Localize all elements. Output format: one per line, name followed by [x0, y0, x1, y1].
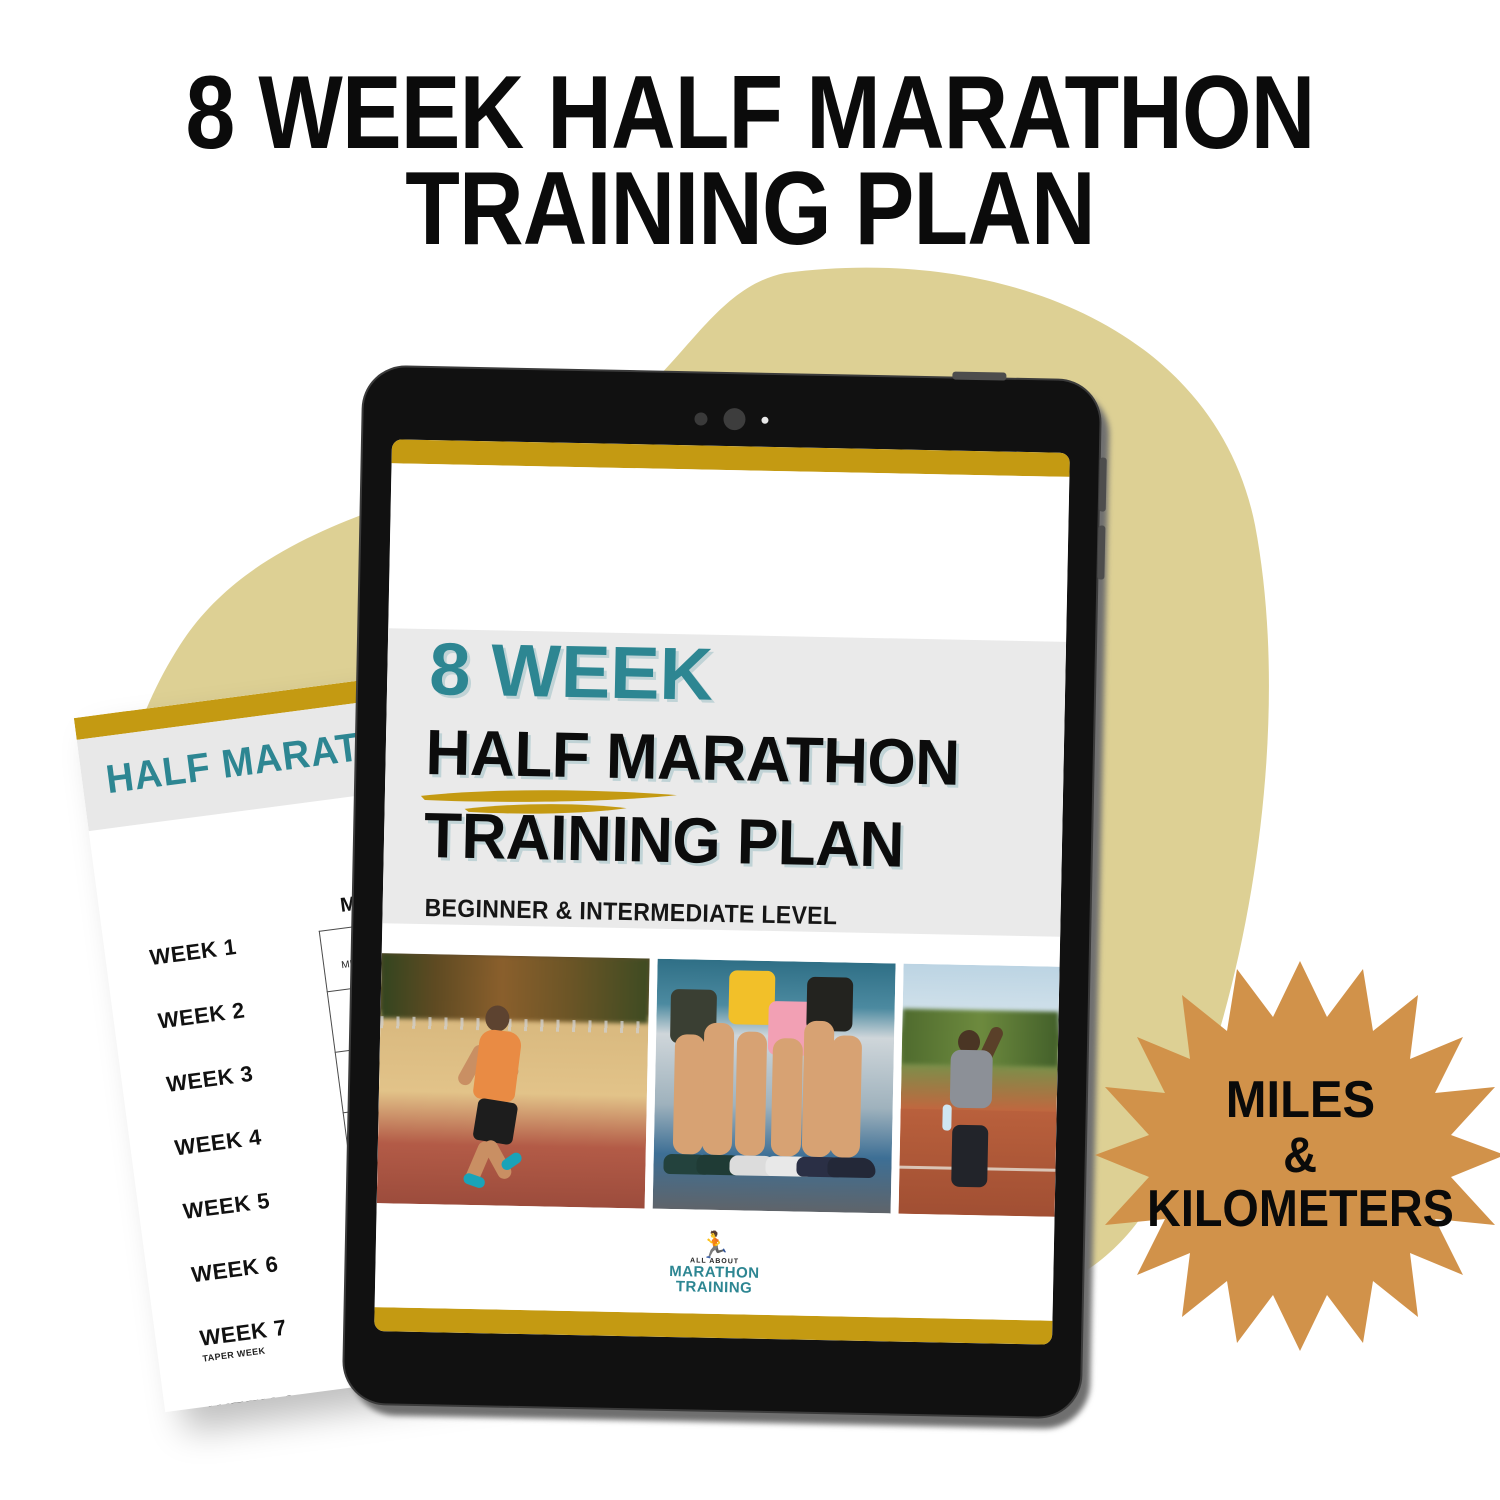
week-label: WEEK 5: [182, 1188, 272, 1224]
volume-up-button[interactable]: [1099, 457, 1107, 511]
week-label: WEEK 3: [165, 1061, 255, 1097]
headline-line-2: TRAINING PLAN: [105, 162, 1395, 258]
photo-runner-high-five: [899, 964, 1060, 1217]
indicator-light-icon: [761, 416, 768, 423]
tablet-body: 8 WEEK HALF MARATHON TRAINING PLAN BEGIN…: [342, 365, 1103, 1420]
photo-race-legs-and-shoes: [653, 959, 896, 1214]
cover-title-line-1: HALF MARATHON: [425, 720, 960, 795]
list-item: WEEK 5: [182, 1177, 354, 1225]
cover-eyebrow: 8 WEEK: [429, 632, 714, 712]
status-badge: MILES & KILOMETERS: [1095, 955, 1500, 1355]
poster-canvas: 8 WEEK HALF MARATHON TRAINING PLAN HALF …: [0, 0, 1500, 1500]
cover-photo-strip: [377, 953, 1060, 1217]
power-button[interactable]: [952, 372, 1006, 381]
week-label: WEEK 2: [156, 997, 246, 1033]
brand-line-3: TRAINING: [669, 1279, 760, 1297]
runner-icon: 🏃: [669, 1231, 760, 1259]
cover-subtitle: BEGINNER & INTERMEDIATE LEVEL: [424, 894, 837, 931]
cover-title-line-2: TRAINING PLAN: [423, 803, 904, 877]
starburst-shape-icon: [1095, 955, 1500, 1355]
photo-runner-on-track: [377, 953, 650, 1208]
tablet-screen[interactable]: 8 WEEK HALF MARATHON TRAINING PLAN BEGIN…: [374, 439, 1070, 1344]
week-label: WEEK 8: [208, 1390, 298, 1412]
sensor-icon: [694, 412, 707, 425]
tablet-mockup: 8 WEEK HALF MARATHON TRAINING PLAN BEGIN…: [342, 365, 1103, 1420]
week-label: WEEK 6: [190, 1251, 280, 1287]
list-item: WEEK 4: [173, 1113, 345, 1161]
list-item: WEEK 6: [190, 1240, 362, 1288]
page-title: 8 WEEK HALF MARATHON TRAINING PLAN: [105, 66, 1395, 257]
front-sensor-array: [363, 401, 1099, 438]
list-item: WEEK 1: [148, 923, 320, 971]
list-item: WEEK 2: [156, 987, 328, 1035]
week-label: WEEK 4: [173, 1124, 263, 1160]
week-label: WEEK 1: [148, 934, 238, 970]
brand-logo: 🏃 ALL ABOUT MARATHON TRAINING: [669, 1231, 761, 1297]
list-item: WEEK 3: [165, 1050, 337, 1098]
volume-down-button[interactable]: [1097, 525, 1105, 579]
ebook-cover: 8 WEEK HALF MARATHON TRAINING PLAN BEGIN…: [375, 463, 1070, 1320]
front-camera-icon: [723, 408, 745, 430]
